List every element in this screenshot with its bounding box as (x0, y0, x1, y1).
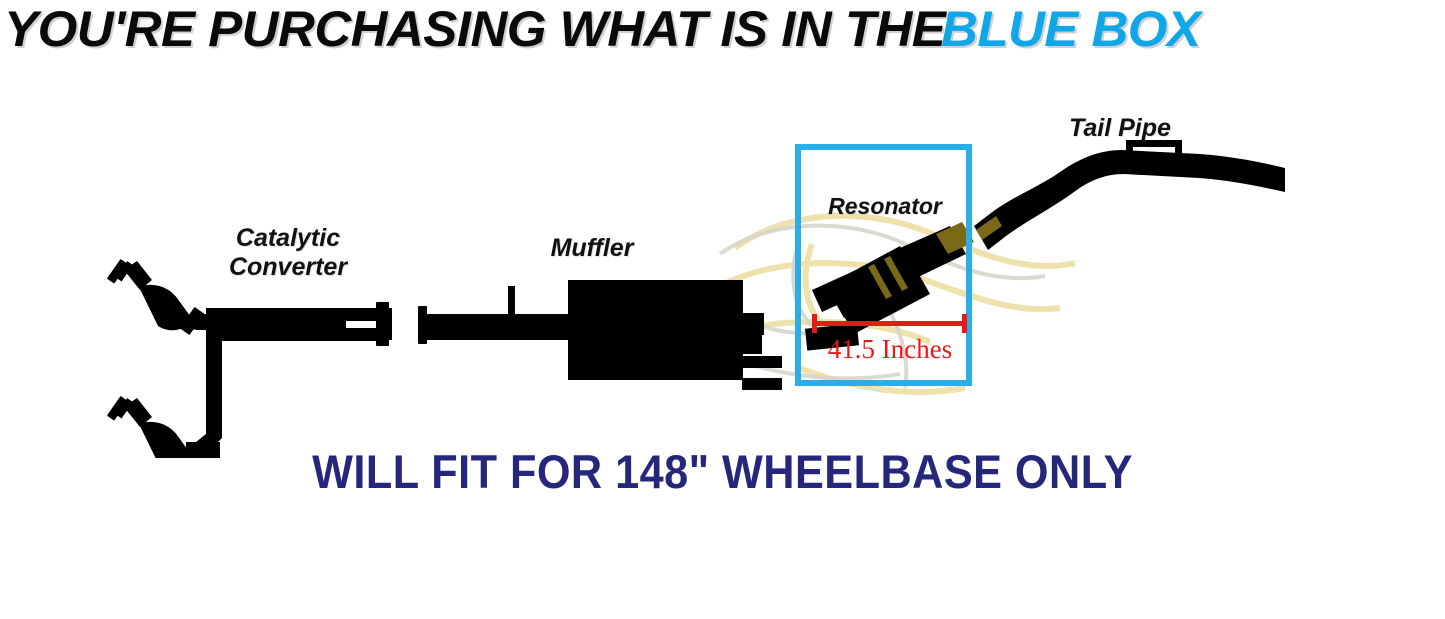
dimension-line (812, 321, 967, 326)
product-info-graphic: YOU'RE PURCHASING WHAT IS IN THE BLUE BO… (0, 0, 1445, 619)
dimension-annotation: 41.5 Inches (812, 314, 967, 364)
label-tail-pipe: Tail Pipe (1040, 114, 1200, 143)
dimension-value-text: 41.5 Inches (804, 334, 976, 365)
header-accent-text: BLUE BOX (941, 1, 1200, 57)
fitment-note: WILL FIT FOR 148" WHEELBASE ONLY (58, 444, 1387, 499)
label-resonator: Resonator (805, 192, 965, 221)
label-muffler: Muffler (512, 234, 672, 263)
tail-pipe-assembly (974, 140, 1285, 250)
dimension-end-cap-left (812, 314, 817, 333)
label-catalytic-converter: Catalytic Converter (198, 224, 378, 282)
header-banner: YOU'RE PURCHASING WHAT IS IN THE BLUE BO… (0, 0, 1445, 58)
muffler-assembly (418, 280, 782, 390)
header-main-text: YOU'RE PURCHASING WHAT IS IN THE (0, 1, 945, 57)
catalytic-converter-assembly (107, 259, 392, 458)
dimension-end-cap-right (962, 314, 967, 333)
